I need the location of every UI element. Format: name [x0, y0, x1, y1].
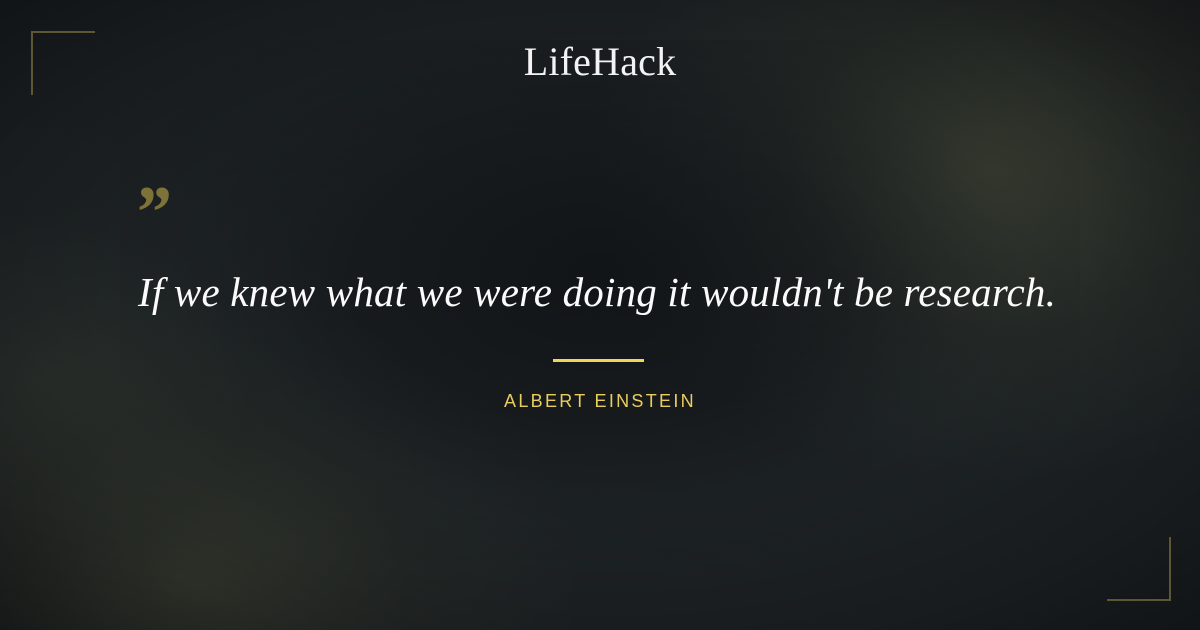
ambient-glow-left — [0, 120, 360, 630]
brand-logo: LifeHack — [0, 38, 1200, 86]
quote-author: ALBERT EINSTEIN — [0, 389, 1200, 413]
ambient-glow-bottom-left — [0, 300, 570, 630]
author-divider — [553, 359, 644, 362]
quote-card: LifeHack ” If we knew what we were doing… — [0, 0, 1200, 630]
quote-text: If we knew what we were doing it wouldn'… — [0, 266, 1200, 318]
quotation-mark-icon: ” — [133, 176, 169, 250]
corner-bracket-bottom-right-icon — [1107, 537, 1171, 601]
